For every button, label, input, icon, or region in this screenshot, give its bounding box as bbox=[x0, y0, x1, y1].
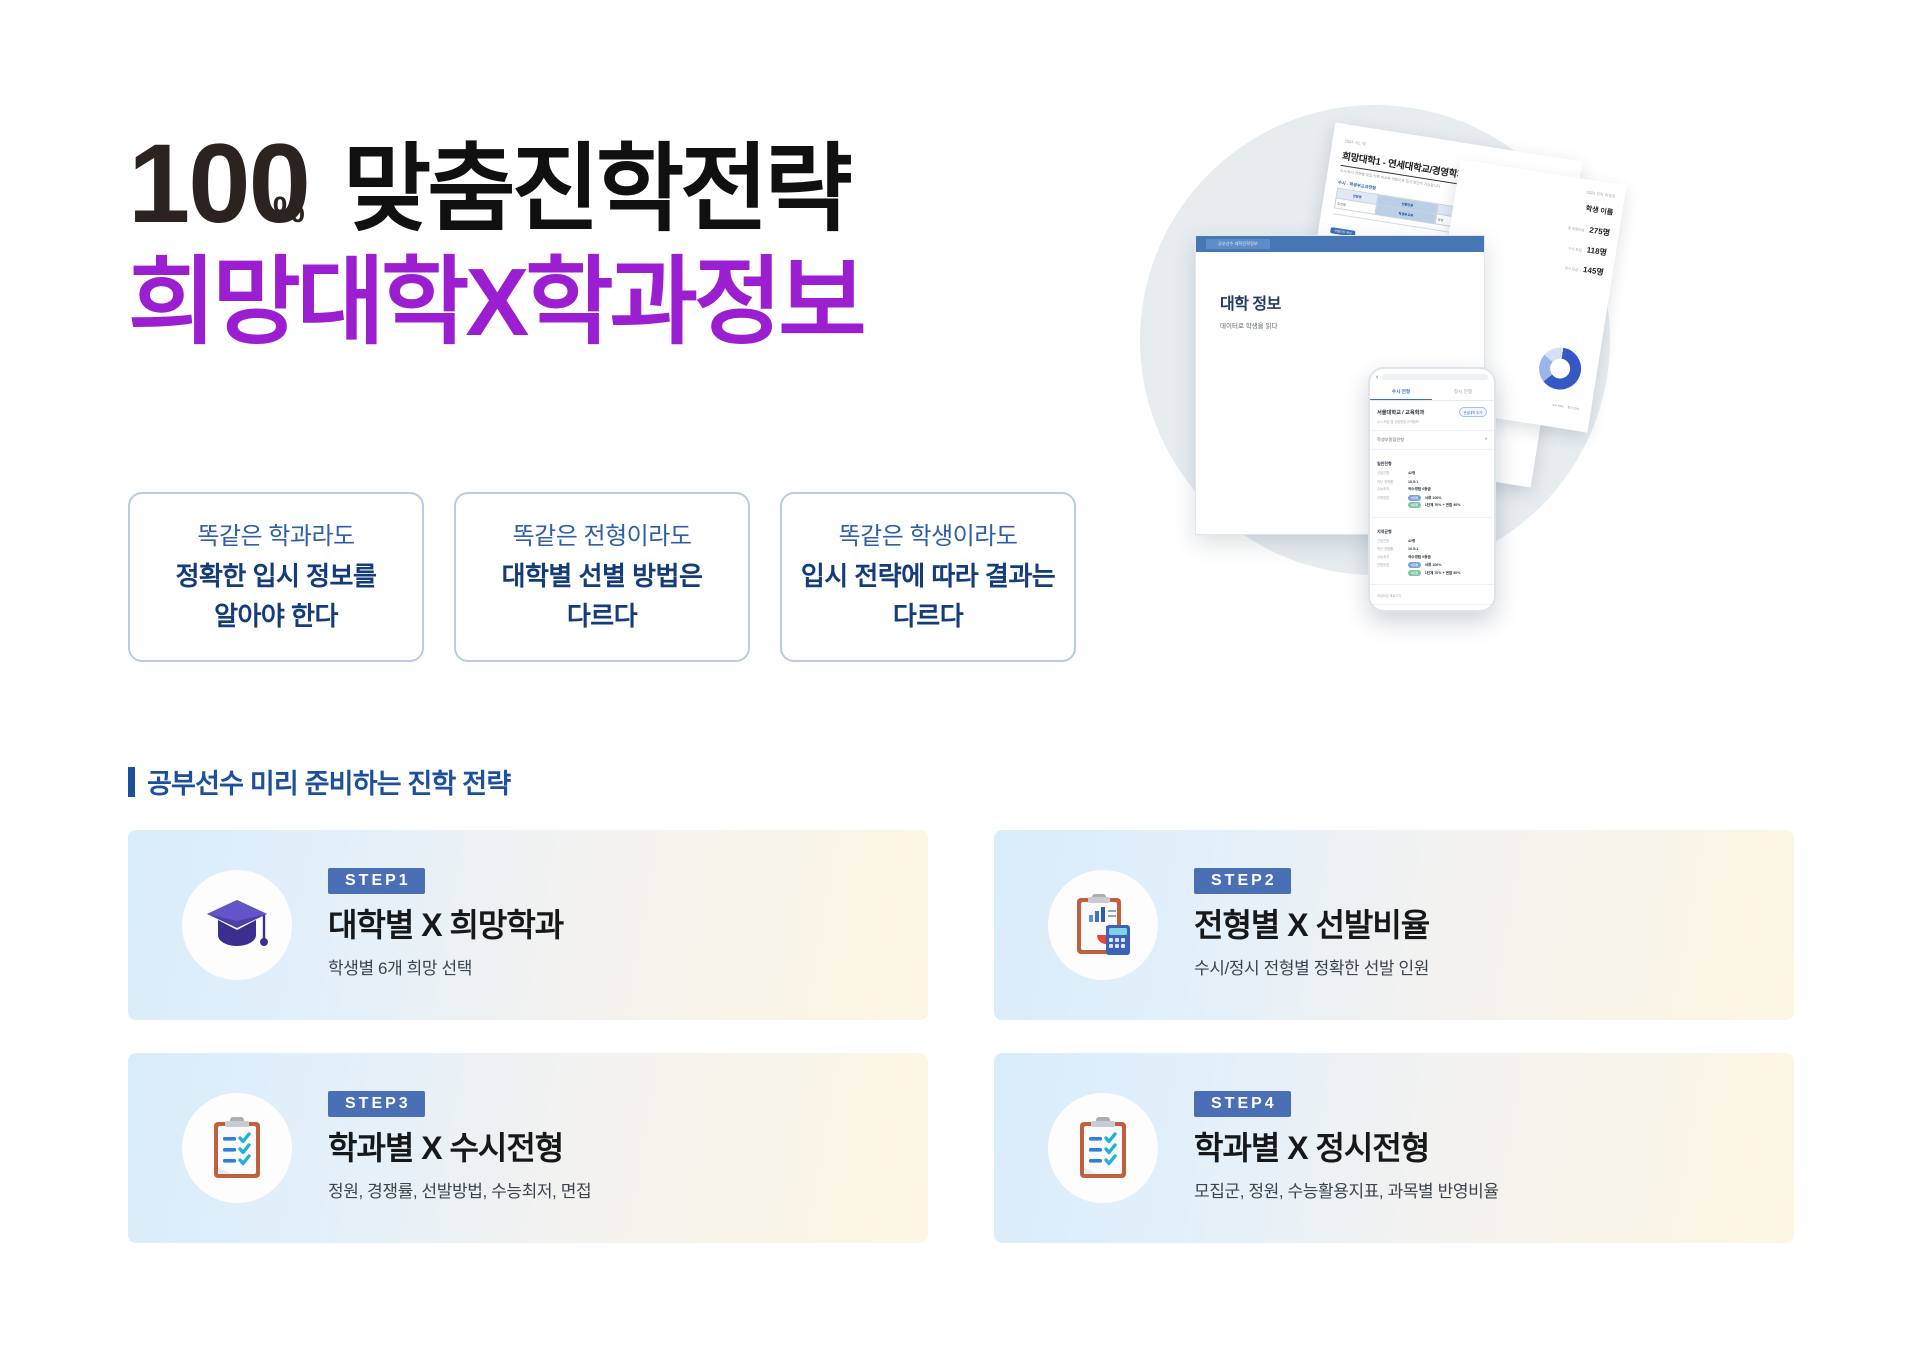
phone-kv-row: 선발인원 42명 bbox=[1377, 538, 1487, 544]
phone-kv-row: 선발인원 42명 bbox=[1377, 470, 1487, 476]
phone-kv-value: 1단계 서류 100% bbox=[1408, 563, 1442, 568]
step-text-block: STEP3 학과별 X 수시전형 정원, 경쟁률, 선발방법, 수능최저, 면접 bbox=[328, 1091, 591, 1206]
callout-card-1: 똑같은 학과라도 정확한 입시 정보를 알아야 한다 bbox=[128, 492, 424, 662]
phone-kv-value: 2단계 1단계 70% + 면접 30% bbox=[1408, 571, 1460, 576]
report-stat-label: 총 모집인원 bbox=[1568, 225, 1585, 233]
callout-main-line-1: 입시 전략에 따라 결과는 bbox=[801, 556, 1055, 596]
phone-kv-key: 전형방법 bbox=[1377, 562, 1403, 567]
phone-block-1: 일반전형 선발인원 42명 작년 경쟁률 10.5:1 수능최저 국수영탐 6등… bbox=[1370, 450, 1494, 518]
callout-main-line-1: 정확한 입시 정보를 bbox=[176, 556, 377, 596]
headline-line-1: 100 % 맞춤진학전략 bbox=[128, 128, 863, 240]
phone-group-header[interactable]: 학생부종합전형 ^ bbox=[1370, 431, 1494, 450]
legend-item: 수시 62% bbox=[1552, 403, 1564, 409]
phone-chip-text: 1단계 70% + 면접 30% bbox=[1425, 503, 1461, 507]
step-title: 대학별 X 희망학과 bbox=[328, 904, 563, 946]
phone-kv-row: 전형방법 1단계 서류 100% bbox=[1377, 495, 1487, 501]
phone-kv-row: 작년 경쟁률 10.5:1 bbox=[1377, 546, 1487, 551]
step-card-2[interactable]: STEP2 전형별 X 선발비율 수시/정시 전형별 정확한 선발 인원 bbox=[994, 830, 1794, 1020]
phone-university-row: 서울대학교 / 교육학과 관심대학 추가 bbox=[1377, 407, 1487, 417]
browser-page-title: 대학 정보 bbox=[1220, 290, 1460, 314]
phone-kv-row: 전형방법 1단계 서류 100% bbox=[1377, 562, 1487, 568]
phone-university-name: 서울대학교 / 교육학과 bbox=[1377, 409, 1424, 416]
step-text-block: STEP1 대학별 X 희망학과 학생별 6개 희망 선택 bbox=[328, 868, 563, 983]
phone-kv-value: 10.5:1 bbox=[1408, 480, 1418, 484]
browser-tab[interactable]: 공부선수 대학진학정보 bbox=[1206, 239, 1270, 249]
phone-kv-row: 작년 경쟁률 10.5:1 bbox=[1377, 479, 1487, 484]
add-interest-button[interactable]: 관심대학 추가 bbox=[1459, 407, 1487, 417]
phone-kv-value: 국수영탐 6등급 bbox=[1408, 487, 1431, 492]
graduation-cap-icon bbox=[182, 870, 292, 980]
phone-kv-row: 수능최저 국수영탐 6등급 bbox=[1377, 554, 1487, 560]
step-subtitle: 학생별 6개 희망 선택 bbox=[328, 954, 563, 979]
report-stat-value: 275명 bbox=[1589, 224, 1611, 238]
donut-chart-icon bbox=[1536, 345, 1584, 393]
step-text-block: STEP4 학과별 X 정시전형 모집군, 정원, 수능활용지표, 과목별 반영… bbox=[1194, 1091, 1499, 1206]
phone-kv-value: 2단계 1단계 70% + 면접 30% bbox=[1408, 503, 1460, 508]
callout-top-text: 똑같은 학과라도 bbox=[197, 518, 354, 556]
clipboard-chart-calculator-icon bbox=[1048, 870, 1158, 980]
browser-content: 대학 정보 데이터로 학생을 읽다 bbox=[1196, 252, 1484, 368]
callout-top-text: 똑같은 전형이라도 bbox=[513, 518, 692, 556]
step-badge: STEP2 bbox=[1194, 868, 1291, 894]
headline-block: 100 % 맞춤진학전략 희망대학X학과정보 bbox=[128, 128, 863, 356]
phone-chip-text: 서류 100% bbox=[1425, 496, 1442, 500]
phone-chip-tag: 2단계 bbox=[1408, 570, 1421, 576]
phone-chip-tag: 1단계 bbox=[1408, 495, 1421, 501]
step-title: 학과별 X 정시전형 bbox=[1194, 1127, 1499, 1169]
poster-page: 100 % 맞춤진학전략 희망대학X학과정보 똑같은 학과라도 정확한 입시 정… bbox=[0, 0, 1920, 1357]
callout-card-2: 똑같은 전형이라도 대학별 선별 방법은 다르다 bbox=[454, 492, 750, 662]
tab-jeongsi[interactable]: 정시 전형 bbox=[1432, 385, 1494, 400]
callout-list: 똑같은 학과라도 정확한 입시 정보를 알아야 한다 똑같은 전형이라도 대학별… bbox=[128, 492, 1076, 662]
report-stat-label: 정시 모집 bbox=[1564, 265, 1578, 272]
phone-university-subtitle: 수시 모집 및 선발방법 요약정보 bbox=[1377, 419, 1487, 424]
step-badge: STEP3 bbox=[328, 1091, 425, 1117]
phone-kv-row: 2단계 1단계 70% + 면접 30% bbox=[1377, 503, 1487, 508]
phone-block-title: 지역균형 bbox=[1377, 529, 1487, 535]
phone-kv-value: 42명 bbox=[1408, 539, 1415, 544]
section-heading: 공부선수 미리 준비하는 진학 전략 bbox=[128, 762, 510, 801]
callout-top-text: 똑같은 학생이라도 bbox=[839, 518, 1018, 556]
report-stat-label: 수시 모집 bbox=[1568, 245, 1582, 252]
donut-legend: 수시 62% 정시 22% bbox=[1552, 403, 1579, 411]
heading-accent-bar bbox=[128, 767, 135, 797]
step-badge: STEP1 bbox=[328, 868, 425, 894]
clipboard-checklist-icon bbox=[182, 1093, 292, 1203]
step-badge: STEP4 bbox=[1194, 1091, 1291, 1117]
chevron-up-icon[interactable]: ^ bbox=[1485, 437, 1487, 443]
chevron-left-icon[interactable]: ‹ bbox=[1376, 374, 1378, 381]
phone-mockup: ‹ 수시 전형 정시 전형 서울대학교 / 교육학과 관심대학 추가 수시 모집… bbox=[1368, 367, 1496, 612]
callout-main-line-2: 다르다 bbox=[567, 596, 637, 636]
headline-black-text: 맞춤진학전략 bbox=[343, 138, 849, 242]
phone-block-2: 지역균형 선발인원 42명 작년 경쟁률 10.5:1 수능최저 국수영탐 6등… bbox=[1370, 518, 1494, 586]
step-card-3[interactable]: STEP3 학과별 X 수시전형 정원, 경쟁률, 선발방법, 수능최저, 면접 bbox=[128, 1053, 928, 1243]
callout-main-line-2: 알아야 한다 bbox=[214, 596, 338, 636]
phone-kv-value: 10.5:1 bbox=[1408, 547, 1418, 551]
phone-kv-key: 전형방법 bbox=[1377, 495, 1403, 500]
browser-titlebar: 공부선수 대학진학정보 bbox=[1196, 236, 1484, 252]
phone-topbar: ‹ bbox=[1370, 369, 1494, 385]
phone-block-title: 일반전형 bbox=[1377, 461, 1487, 467]
phone-footer-link[interactable]: 모집요강 바로가기 bbox=[1370, 585, 1494, 605]
hero-section: 100 % 맞춤진학전략 희망대학X학과정보 똑같은 학과라도 정확한 입시 정… bbox=[0, 0, 1920, 760]
report-stat-value: 145명 bbox=[1582, 264, 1604, 278]
phone-footer-label: 모집요강 바로가기 bbox=[1377, 593, 1487, 598]
step-card-4[interactable]: STEP4 학과별 X 정시전형 모집군, 정원, 수능활용지표, 과목별 반영… bbox=[994, 1053, 1794, 1243]
step-subtitle: 정원, 경쟁률, 선발방법, 수능최저, 면접 bbox=[328, 1177, 591, 1202]
heading-text: 공부선수 미리 준비하는 진학 전략 bbox=[147, 762, 510, 801]
phone-kv-key: 작년 경쟁률 bbox=[1377, 479, 1403, 484]
step-title: 학과별 X 수시전형 bbox=[328, 1127, 591, 1169]
browser-page-subtitle: 데이터로 학생을 읽다 bbox=[1220, 320, 1460, 330]
phone-kv-key: 작년 경쟁률 bbox=[1377, 546, 1403, 551]
step-subtitle: 수시/정시 전형별 정확한 선발 인원 bbox=[1194, 954, 1429, 979]
phone-kv-value: 국수영탐 6등급 bbox=[1408, 555, 1431, 560]
step-subtitle: 모집군, 정원, 수능활용지표, 과목별 반영비율 bbox=[1194, 1177, 1499, 1202]
phone-kv-key: 수능최저 bbox=[1377, 554, 1403, 559]
phone-kv-key: 수능최저 bbox=[1377, 486, 1403, 491]
phone-kv-key: 선발인원 bbox=[1377, 538, 1403, 543]
phone-kv-row: 2단계 1단계 70% + 면접 30% bbox=[1377, 571, 1487, 576]
phone-kv-row: 수능최저 국수영탐 6등급 bbox=[1377, 486, 1487, 492]
hundred-number: 100 % bbox=[128, 128, 309, 240]
step-text-block: STEP2 전형별 X 선발비율 수시/정시 전형별 정확한 선발 인원 bbox=[1194, 868, 1429, 983]
step-card-grid: STEP1 대학별 X 희망학과 학생별 6개 희망 선택 bbox=[128, 830, 1794, 1243]
step-card-1[interactable]: STEP1 대학별 X 희망학과 학생별 6개 희망 선택 bbox=[128, 830, 928, 1020]
phone-group-row: 학생부종합전형 ^ bbox=[1377, 437, 1487, 443]
callout-card-3: 똑같은 학생이라도 입시 전략에 따라 결과는 다르다 bbox=[780, 492, 1076, 662]
headline-purple-text: 희망대학X학과정보 bbox=[128, 250, 863, 356]
hero-visual: 2024. 01. 학 희망대학1 - 연세대학교/경영학과 수시/정시 전형별… bbox=[1140, 105, 1610, 575]
phone-group-title: 학생부종합전형 bbox=[1377, 437, 1404, 443]
step-title: 전형별 X 선발비율 bbox=[1194, 904, 1429, 946]
phone-kv-value: 1단계 서류 100% bbox=[1408, 496, 1442, 501]
phone-chip-tag: 1단계 bbox=[1408, 562, 1421, 568]
phone-kv-key: 선발인원 bbox=[1377, 470, 1403, 475]
phone-chip-text: 1단계 70% + 면접 30% bbox=[1425, 571, 1461, 575]
legend-item: 정시 22% bbox=[1567, 405, 1579, 411]
clipboard-checklist-icon bbox=[1048, 1093, 1158, 1203]
phone-address-pill bbox=[1382, 374, 1488, 380]
phone-chip-tag: 2단계 bbox=[1408, 502, 1421, 508]
phone-tabs: 수시 전형 정시 전형 bbox=[1370, 385, 1494, 401]
callout-main-line-1: 대학별 선별 방법은 bbox=[502, 556, 703, 596]
report-stat-value: 118명 bbox=[1586, 244, 1608, 258]
phone-kv-value: 42명 bbox=[1408, 471, 1415, 476]
tab-susi[interactable]: 수시 전형 bbox=[1370, 385, 1432, 400]
phone-university-section: 서울대학교 / 교육학과 관심대학 추가 수시 모집 및 선발방법 요약정보 bbox=[1370, 401, 1494, 431]
phone-chip-text: 서류 100% bbox=[1425, 563, 1442, 567]
percent-symbol: % bbox=[273, 154, 303, 266]
callout-main-line-2: 다르다 bbox=[893, 596, 963, 636]
